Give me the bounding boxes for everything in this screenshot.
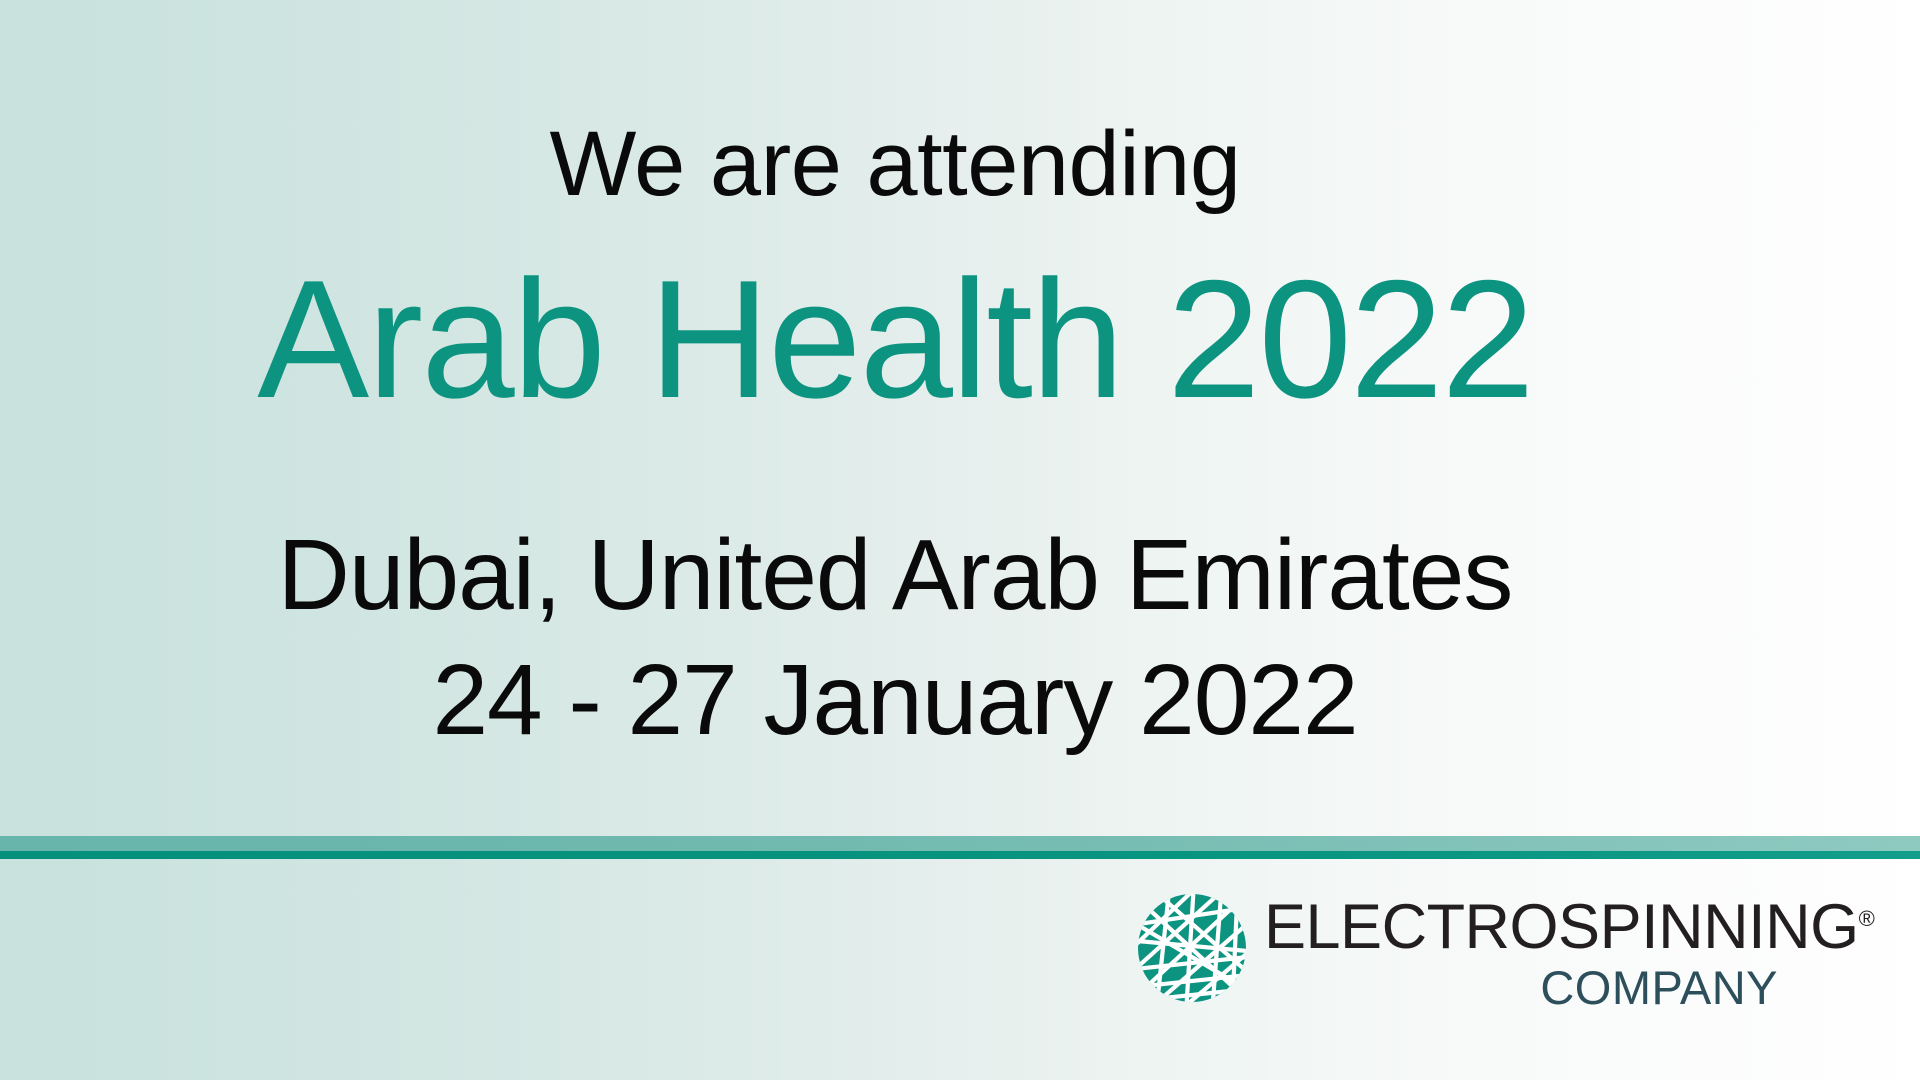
divider-rule	[0, 851, 1920, 859]
divider	[0, 836, 1920, 859]
logo-subwordmark: COMPANY	[1540, 964, 1778, 1011]
electrospinning-mesh-circle-icon	[1136, 892, 1248, 1004]
company-logo: ELECTROSPINNING® COMPANY	[1136, 890, 1786, 1015]
event-dates: 24 - 27 January 2022	[0, 650, 1790, 750]
promotional-banner: We are attending Arab Health 2022 Dubai,…	[0, 0, 1920, 1080]
divider-band	[0, 836, 1920, 851]
event-title: Arab Health 2022	[0, 255, 1790, 423]
logo-wordmark: ELECTROSPINNING®	[1264, 896, 1874, 959]
eyebrow-text: We are attending	[0, 118, 1790, 210]
logo-wordmark-group: ELECTROSPINNING® COMPANY	[1264, 890, 1784, 1015]
registered-trademark-icon: ®	[1859, 906, 1875, 931]
event-location: Dubai, United Arab Emirates	[0, 525, 1790, 625]
logo-wordmark-text: ELECTROSPINNING	[1264, 892, 1859, 962]
